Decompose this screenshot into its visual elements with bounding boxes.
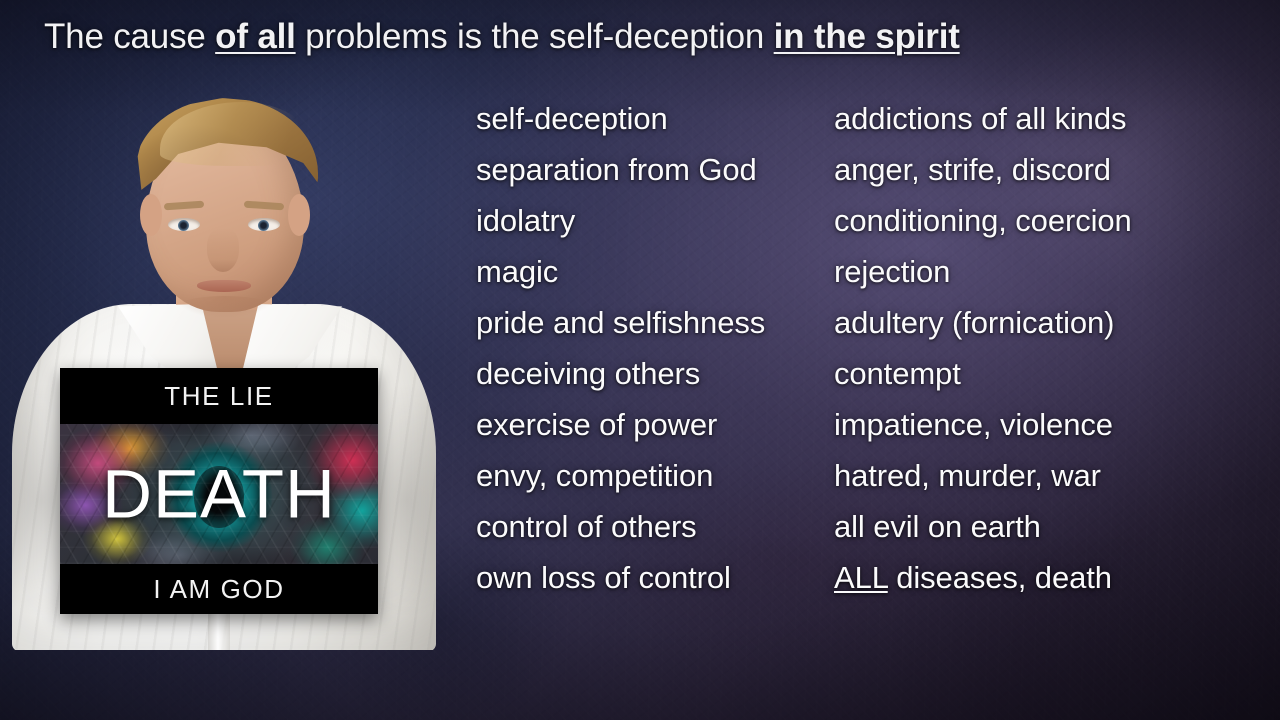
list-item-all-diseases: ALL diseases, death (834, 552, 1132, 603)
iris-left (178, 220, 189, 231)
list-item: self-deception (476, 93, 765, 144)
list-item: control of others (476, 501, 765, 552)
mouth (197, 280, 251, 292)
chin-shadow (176, 296, 274, 318)
list-item: exercise of power (476, 399, 765, 450)
left-list: self-deception separation from God idola… (476, 93, 765, 603)
slide-canvas: The cause of all problems is the self-de… (0, 0, 1280, 720)
list-item: hatred, murder, war (834, 450, 1132, 501)
right-list: addictions of all kinds anger, strife, d… (834, 93, 1132, 603)
list-item: rejection (834, 246, 1132, 297)
slide-title: The cause of all problems is the self-de… (44, 16, 1224, 58)
iris-right (258, 220, 269, 231)
card-eye-artwork: DEATH (60, 424, 378, 564)
card-top-band-label: THE LIE (60, 368, 378, 424)
list-item: anger, strife, discord (834, 144, 1132, 195)
list-item: magic (476, 246, 765, 297)
list-item: idolatry (476, 195, 765, 246)
card-center-label: DEATH (60, 460, 378, 529)
list-item: envy, competition (476, 450, 765, 501)
card-bottom-band-label: I AM GOD (60, 564, 378, 614)
nose (207, 228, 239, 272)
list-item: all evil on earth (834, 501, 1132, 552)
lie-death-card: THE LIE DEATH I AM GOD (60, 368, 378, 614)
ear-left (140, 194, 162, 236)
list-item: addictions of all kinds (834, 93, 1132, 144)
title-emphasis-of-all: of all (215, 17, 295, 56)
list-item: adultery (fornication) (834, 297, 1132, 348)
underlined-all: ALL (834, 560, 888, 595)
list-item: separation from God (476, 144, 765, 195)
list-item: deceiving others (476, 348, 765, 399)
list-item: pride and selfishness (476, 297, 765, 348)
all-diseases-rest: diseases, death (888, 560, 1112, 595)
list-item: own loss of control (476, 552, 765, 603)
title-emphasis-in-the-spirit: in the spirit (774, 17, 960, 56)
list-item: contempt (834, 348, 1132, 399)
title-part-1: The cause (44, 17, 215, 56)
title-part-2: problems is the self-deception (296, 17, 774, 56)
ear-right (288, 194, 310, 236)
list-item: impatience, violence (834, 399, 1132, 450)
list-item: conditioning, coercion (834, 195, 1132, 246)
